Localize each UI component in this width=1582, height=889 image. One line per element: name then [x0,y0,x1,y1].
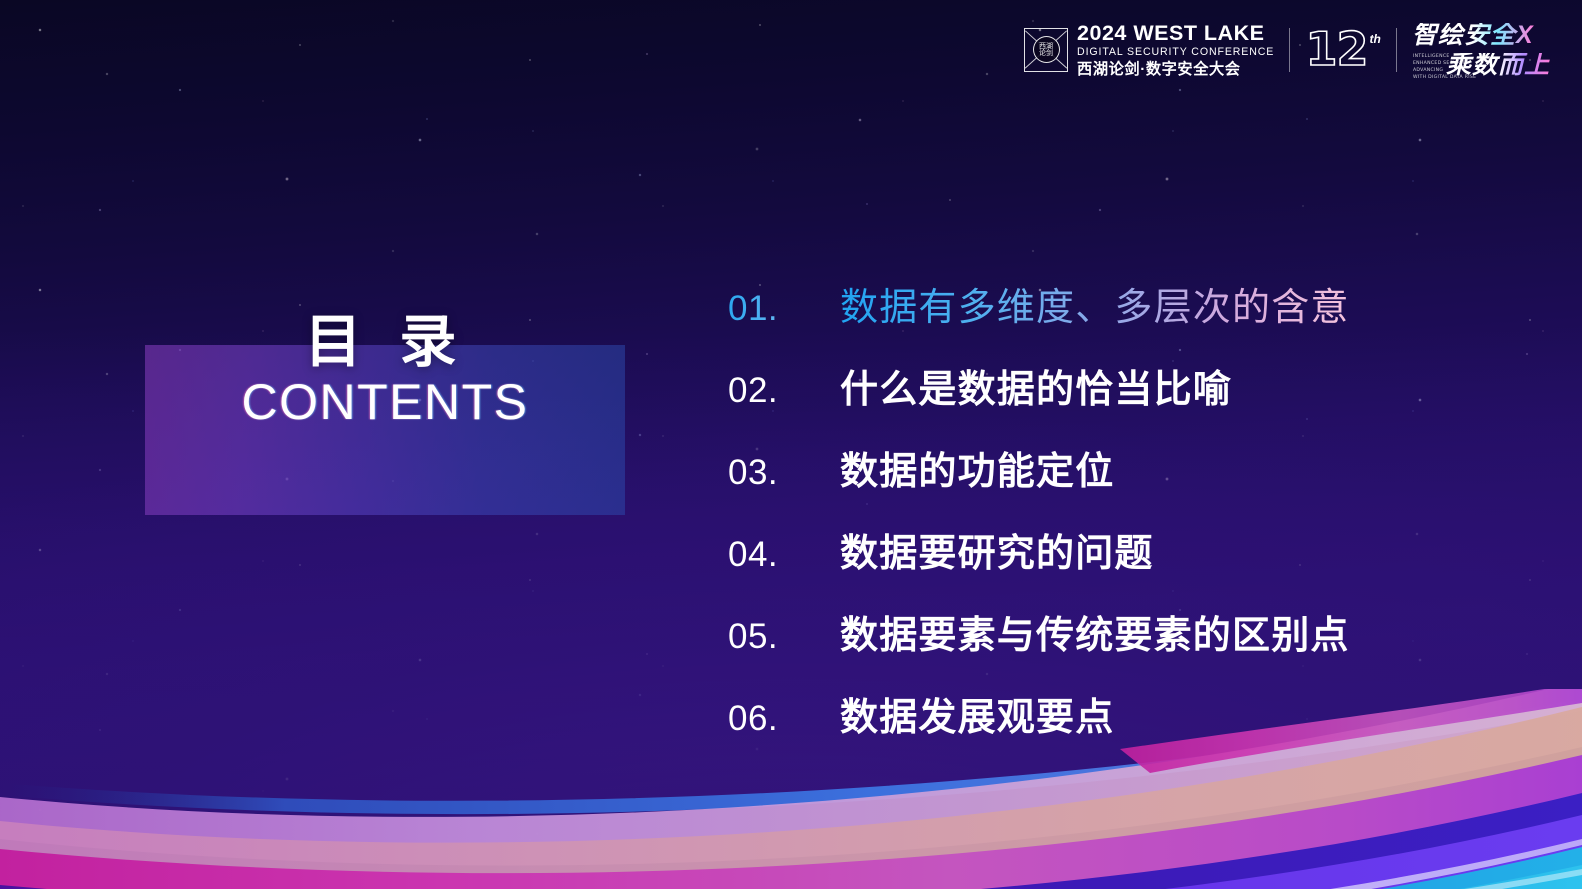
toc-number-02: 02. [728,371,840,411]
logo-title-cn: 西湖论剑·数字安全大会 [1077,62,1274,77]
toc-label-05: 数据要素与传统要素的区别点 [840,604,1350,659]
toc-label-01: 数据有多维度、多层次的含意 [840,276,1350,331]
conference-logo: 西湖论剑 2024 WEST LAKE DIGITAL SECURITY CON… [1024,23,1274,77]
conference-logo-bar: 西湖论剑 2024 WEST LAKE DIGITAL SECURITY CON… [1024,22,1550,78]
presentation-slide: 西湖论剑 2024 WEST LAKE DIGITAL SECURITY CON… [0,0,1582,889]
logo-title-en: 2024 WEST LAKE [1077,23,1274,45]
logo-text-block: 2024 WEST LAKE DIGITAL SECURITY CONFEREN… [1077,23,1274,77]
toc-number-03: 03. [728,453,840,493]
edition-suffix: th [1369,32,1380,46]
slogan-english-subtext: INTELLIGENCEENHANCED SECURITYADVANCINGWI… [1413,53,1476,81]
table-of-contents-list: 01. 数据有多维度、多层次的含意 02. 什么是数据的恰当比喻 03. 数据的… [728,276,1518,768]
toc-label-03: 数据的功能定位 [840,440,1114,495]
wave-cyan [640,865,1582,889]
toc-item-02[interactable]: 02. 什么是数据的恰当比喻 [728,358,1518,440]
wave-hairline-1 [0,839,1582,889]
wave-deep-violet [0,793,1582,889]
emblem-inner-glyph: 西湖论剑 [1033,36,1060,63]
wave-hairline-2 [420,869,1582,889]
toc-number-06: 06. [728,699,840,739]
wave-magenta [0,755,1582,889]
conference-slogan: 智绘安全X 乘数而上 INTELLIGENCEENHANCED SECURITY… [1412,23,1550,78]
toc-item-01[interactable]: 01. 数据有多维度、多层次的含意 [728,276,1518,358]
logo-subtitle-en: DIGITAL SECURITY CONFERENCE [1077,47,1274,58]
toc-number-05: 05. [728,617,840,657]
west-lake-emblem-icon: 西湖论剑 [1024,28,1068,72]
wave-blue [0,847,1582,889]
toc-item-04[interactable]: 04. 数据要研究的问题 [728,522,1518,604]
toc-item-03[interactable]: 03. 数据的功能定位 [728,440,1518,522]
logo-divider-1 [1289,28,1290,72]
edition-badge: 12 th [1305,28,1380,72]
toc-item-06[interactable]: 06. 数据发展观要点 [728,686,1518,768]
toc-label-04: 数据要研究的问题 [840,522,1154,577]
toc-number-01: 01. [728,289,840,329]
slogan-line-top: 智绘安全X [1412,23,1550,48]
toc-label-02: 什么是数据的恰当比喻 [840,358,1232,413]
wave-violet [0,815,1582,889]
toc-number-04: 04. [728,535,840,575]
edition-number: 12 [1305,28,1367,72]
toc-label-06: 数据发展观要点 [840,686,1114,741]
logo-divider-2 [1396,28,1397,72]
toc-item-05[interactable]: 05. 数据要素与传统要素的区别点 [728,604,1518,686]
contents-gradient-panel [145,345,625,515]
